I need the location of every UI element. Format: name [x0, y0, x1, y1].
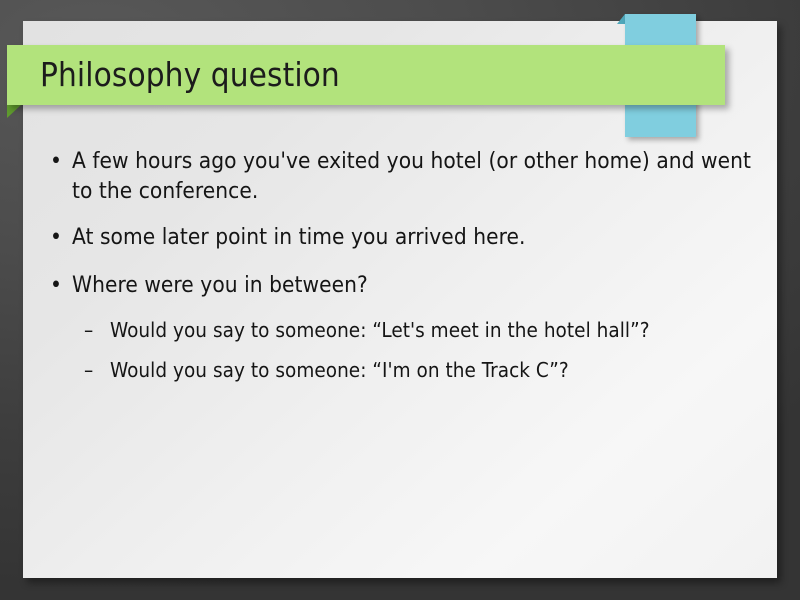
list-item-text: Where were you in between? — [72, 272, 368, 298]
slide: Philosophy question • A few hours ago yo… — [0, 0, 800, 600]
sub-list-item: – Would you say to someone: “Let's meet … — [46, 316, 758, 344]
list-item-text: At some later point in time you arrived … — [72, 224, 525, 250]
bullet-marker-icon: • — [50, 222, 62, 252]
blue-ribbon-fold-shape — [617, 14, 625, 24]
list-item-text: A few hours ago you've exited you hotel … — [72, 148, 751, 204]
dash-marker-icon: – — [84, 316, 93, 344]
sub-list-item: – Would you say to someone: “I'm on the … — [46, 356, 758, 384]
list-item: • At some later point in time you arrive… — [46, 222, 758, 252]
sub-list-item-text: Would you say to someone: “I'm on the Tr… — [110, 358, 569, 382]
page-title: Philosophy question — [40, 51, 340, 99]
list-item: • A few hours ago you've exited you hote… — [46, 146, 758, 206]
bullet-marker-icon: • — [50, 270, 62, 300]
bullet-marker-icon: • — [50, 146, 62, 176]
green-banner-fold-shape — [7, 105, 21, 118]
sub-list-item-text: Would you say to someone: “Let's meet in… — [110, 318, 650, 342]
dash-marker-icon: – — [84, 356, 93, 384]
slide-body: • A few hours ago you've exited you hote… — [46, 146, 758, 396]
list-item: • Where were you in between? — [46, 270, 758, 300]
